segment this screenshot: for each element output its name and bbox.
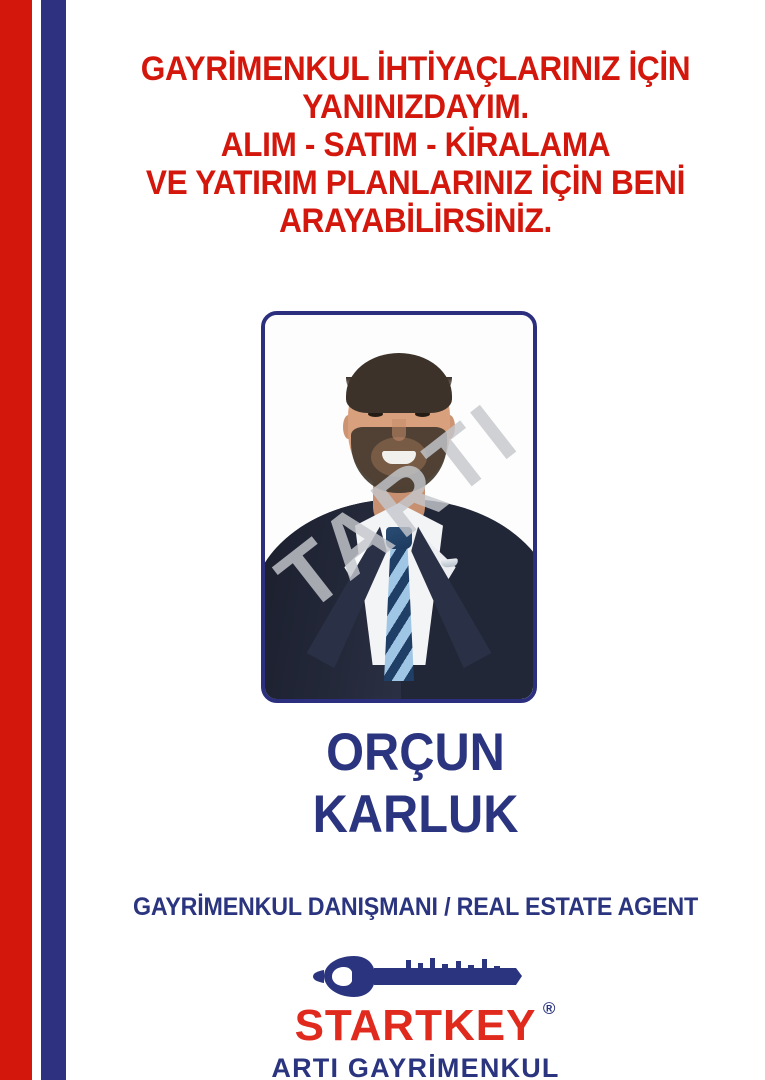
headline-line-3: ALIM - SATIM - KİRALAMA xyxy=(90,126,740,164)
nose xyxy=(392,419,406,441)
agent-role: GAYRİMENKUL DANIŞMANI / REAL ESTATE AGEN… xyxy=(90,893,740,922)
headline-block: GAYRİMENKUL İHTİYAÇLARINIZ İÇİN YANINIZD… xyxy=(90,50,740,240)
blue-stripe xyxy=(41,0,66,1080)
headline-line-5: ARAYABİLİRSİNİZ. xyxy=(90,202,740,240)
headline-line-1: GAYRİMENKUL İHTİYAÇLARINIZ İÇİN xyxy=(90,50,740,88)
headline-line-4: VE YATIRIM PLANLARINIZ İÇİN BENİ xyxy=(90,164,740,202)
brand-wordmark-text: STARTKEY xyxy=(295,1001,537,1050)
headline-line-2: YANINIZDAYIM. xyxy=(90,88,740,126)
agent-first-name: ORÇUN xyxy=(94,722,737,784)
agent-last-name: KARLUK xyxy=(94,784,737,846)
agent-photo: TARTI xyxy=(265,315,533,699)
brand-subtitle: ARTI GAYRİMENKUL xyxy=(66,1053,765,1080)
brand-logo[interactable]: STARTKEY ® ARTI GAYRİMENKUL xyxy=(66,952,765,1080)
agent-name-block: ORÇUN KARLUK xyxy=(94,722,737,846)
brand-wordmark: STARTKEY ® xyxy=(295,1004,537,1048)
registered-trademark-icon: ® xyxy=(543,1000,557,1017)
key-with-skyline-icon xyxy=(310,952,522,1002)
red-stripe xyxy=(0,0,32,1080)
poster-canvas: GAYRİMENKUL İHTİYAÇLARINIZ İÇİN YANINIZD… xyxy=(0,0,765,1080)
tie-knot xyxy=(386,527,412,549)
hair-fade xyxy=(346,377,452,403)
agent-photo-frame: TARTI xyxy=(261,311,537,703)
smile xyxy=(382,451,416,464)
